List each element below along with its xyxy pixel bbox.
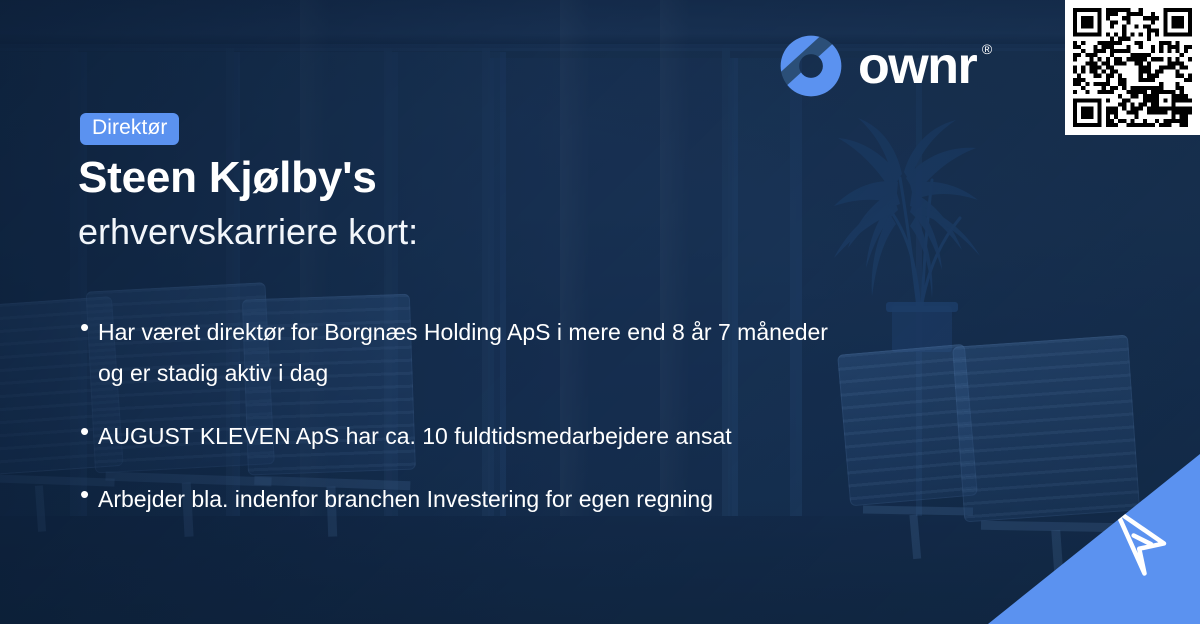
click-cursor-icon — [1084, 488, 1192, 596]
list-item: • Har været direktør for Borgnæs Holding… — [80, 312, 920, 394]
title-subtitle: erhvervskarriere kort: — [78, 210, 418, 253]
list-item-text: Arbejder bla. indenfor branchen Invester… — [98, 479, 713, 520]
ownr-logo[interactable]: ownr® — [778, 33, 992, 99]
list-item-line: Har været direktør for Borgnæs Holding A… — [98, 319, 685, 345]
ownr-wordmark: ownr® — [858, 40, 992, 92]
career-facts-list: • Har været direktør for Borgnæs Holding… — [80, 312, 920, 542]
role-badge: Direktør — [80, 113, 179, 145]
person-name: Steen Kjølby's — [78, 152, 418, 204]
corner-accent-triangle — [988, 454, 1200, 624]
list-item-text: AUGUST KLEVEN ApS har ca. 10 fuldtidsmed… — [98, 416, 732, 457]
qr-code-canvas — [1073, 8, 1192, 127]
list-item-text: Har været direktør for Borgnæs Holding A… — [98, 312, 828, 394]
ownr-wordmark-text: ownr — [858, 37, 976, 95]
bullet-marker-icon: • — [80, 311, 98, 343]
list-item: • Arbejder bla. indenfor branchen Invest… — [80, 479, 920, 520]
bullet-marker-icon: • — [80, 415, 98, 447]
registered-trademark-symbol: ® — [982, 42, 992, 56]
page-title: Steen Kjølby's erhvervskarriere kort: — [78, 152, 418, 253]
ownr-circle-mark-icon — [778, 33, 844, 99]
qr-code[interactable] — [1065, 0, 1200, 135]
bullet-marker-icon: • — [80, 478, 98, 510]
list-item: • AUGUST KLEVEN ApS har ca. 10 fuldtidsm… — [80, 416, 920, 457]
business-career-card: Direktør Steen Kjølby's erhvervskarriere… — [0, 0, 1200, 624]
